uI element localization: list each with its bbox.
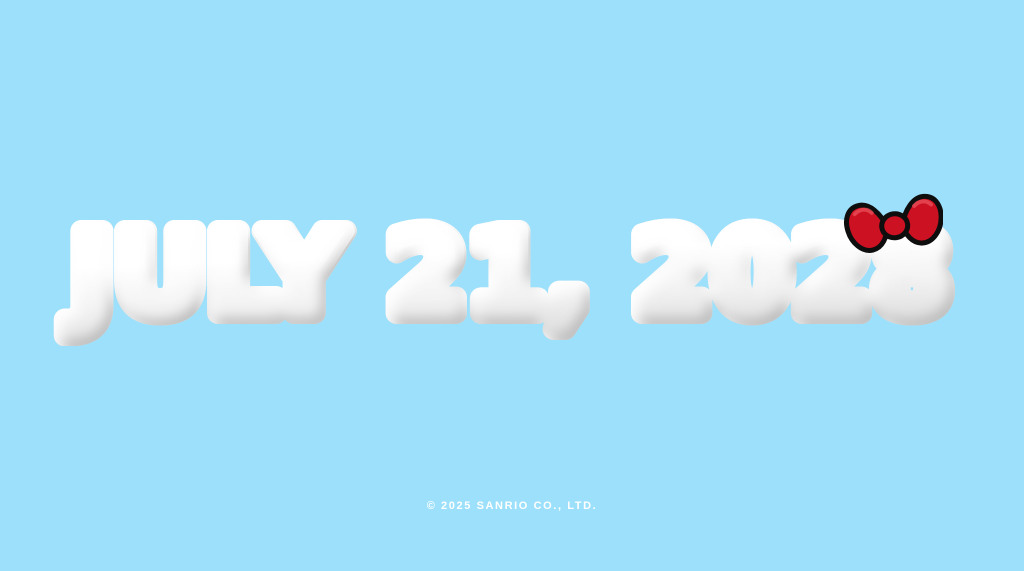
sanrio-date-card: JULY 21, 2028 JULY 21, 2028 © 2025 SANRI… (0, 0, 1024, 571)
bow-icon (843, 192, 943, 264)
hello-kitty-bow (843, 192, 943, 264)
headline-text-gloss: JULY 21, 2028 (64, 210, 953, 340)
bow-knot (880, 212, 909, 239)
copyright-notice: © 2025 SANRIO CO., LTD. (0, 500, 1024, 512)
